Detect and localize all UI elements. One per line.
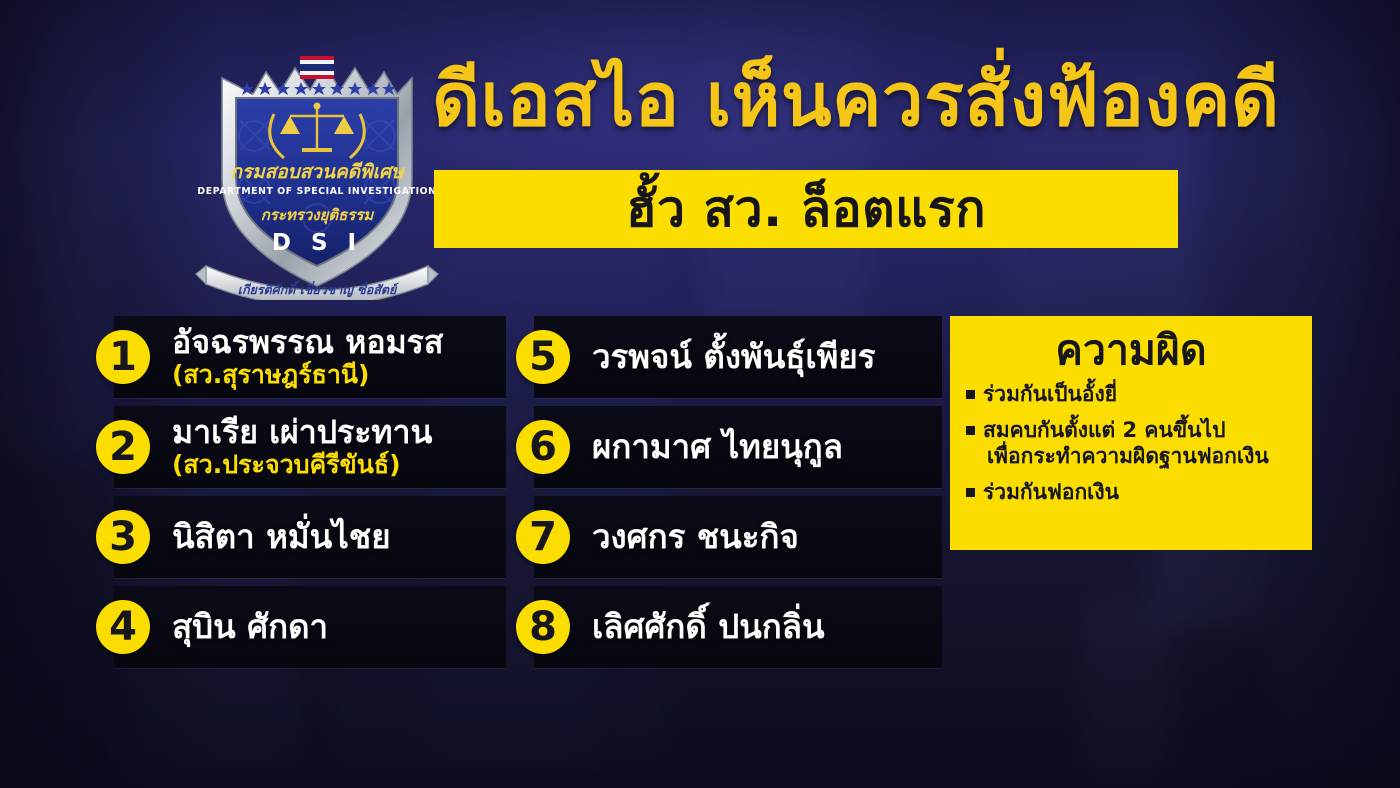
charge-item: สมคบกันตั้งแต่ 2 คนขึ้นไป เพื่อกระทำความ… (966, 418, 1296, 468)
bullet-icon (966, 390, 975, 399)
charges-panel: ความผิด ร่วมกันเป็นอั้งยี่ สมคบกันตั้งแต… (950, 316, 1312, 550)
person-name: อัจฉรพรรณ หอมรส (172, 325, 443, 360)
charge-text: ร่วมกันเป็นอั้งยี่ (983, 382, 1296, 407)
person-name: วงศกร ชนะกิจ (592, 519, 799, 555)
person-name: ผกามาศ ไทยนุกูล (592, 429, 843, 465)
subtitle-text: ฮั้ว สว. ล็อตแรก (626, 184, 986, 234)
person-name: เลิศศักดิ์ ปนกลิ่น (592, 609, 825, 645)
list-item[interactable]: 8 เลิศศักดิ์ ปนกลิ่น (516, 586, 942, 668)
dsi-logo: กรมสอบสวนคดีพิเศษ DEPARTMENT OF SPECIAL … (192, 28, 442, 300)
charge-item: ร่วมกันฟอกเงิน (966, 480, 1296, 505)
list-item[interactable]: 2 มาเรีย เผ่าประทาน (สว.ประจวบคีรีขันธ์) (96, 406, 506, 488)
item-number-badge: 4 (96, 600, 150, 654)
logo-acronym: D S I (272, 230, 362, 256)
item-text: นิสิตา หมั่นไชย (172, 519, 391, 555)
item-number-badge: 3 (96, 510, 150, 564)
logo-agency-thai: กรมสอบสวนคดีพิเศษ (230, 161, 406, 183)
item-number-badge: 5 (516, 330, 570, 384)
person-name: มาเรีย เผ่าประทาน (172, 415, 432, 450)
item-number-badge: 7 (516, 510, 570, 564)
item-number-badge: 8 (516, 600, 570, 654)
charge-text: ร่วมกันฟอกเงิน (983, 480, 1296, 505)
list-item[interactable]: 5 วรพจน์ ตั้งพันธุ์เพียร (516, 316, 942, 398)
item-text: ผกามาศ ไทยนุกูล (592, 429, 843, 465)
logo-ministry-thai: กระทรวงยุติธรรม (261, 206, 375, 225)
list-item[interactable]: 4 สุบิน ศักดา (96, 586, 506, 668)
charge-line-2: เพื่อกระทำความผิดฐานฟอกเงิน (983, 444, 1296, 469)
thai-flag-icon (300, 56, 334, 79)
item-number-badge: 1 (96, 330, 150, 384)
person-name: สุบิน ศักดา (172, 609, 328, 645)
person-position: (สว.ประจวบคีรีขันธ์) (172, 451, 432, 479)
charge-item: ร่วมกันเป็นอั้งยี่ (966, 382, 1296, 407)
bullet-icon (966, 488, 975, 497)
item-text: มาเรีย เผ่าประทาน (สว.ประจวบคีรีขันธ์) (172, 415, 432, 478)
item-text: วงศกร ชนะกิจ (592, 519, 799, 555)
list-item[interactable]: 1 อัจฉรพรรณ หอมรส (สว.สุราษฎร์ธานี) (96, 316, 506, 398)
item-text: สุบิน ศักดา (172, 609, 328, 645)
item-number-badge: 2 (96, 420, 150, 474)
person-name: วรพจน์ ตั้งพันธุ์เพียร (592, 339, 875, 375)
item-number-badge: 6 (516, 420, 570, 474)
item-text: เลิศศักดิ์ ปนกลิ่น (592, 609, 825, 645)
subtitle-banner: ฮั้ว สว. ล็อตแรก (434, 170, 1178, 248)
people-list-left: 1 อัจฉรพรรณ หอมรส (สว.สุราษฎร์ธานี) 2 มา… (96, 316, 506, 676)
person-name: นิสิตา หมั่นไชย (172, 519, 391, 555)
charge-line-1: สมคบกันตั้งแต่ 2 คนขึ้นไป (983, 418, 1225, 442)
person-position: (สว.สุราษฎร์ธานี) (172, 361, 443, 389)
page-headline: ดีเอสไอ เห็นควรสั่งฟ้องคดี (432, 46, 1184, 154)
item-text: อัจฉรพรรณ หอมรส (สว.สุราษฎร์ธานี) (172, 325, 443, 388)
charges-title: ความผิด (966, 328, 1296, 372)
logo-agency-english: DEPARTMENT OF SPECIAL INVESTIGATION (197, 186, 436, 197)
list-item[interactable]: 6 ผกามาศ ไทยนุกูล (516, 406, 942, 488)
logo-motto: เกียรติศักดิ์ เชี่ยวชาญ ซื่อสัตย์ (238, 280, 400, 298)
item-text: วรพจน์ ตั้งพันธุ์เพียร (592, 339, 875, 375)
list-item[interactable]: 3 นิสิตา หมั่นไชย (96, 496, 506, 578)
charge-text: สมคบกันตั้งแต่ 2 คนขึ้นไป เพื่อกระทำความ… (983, 418, 1296, 468)
bullet-icon (966, 426, 975, 435)
list-item[interactable]: 7 วงศกร ชนะกิจ (516, 496, 942, 578)
people-list-right: 5 วรพจน์ ตั้งพันธุ์เพียร 6 ผกามาศ ไทยนุก… (516, 316, 942, 676)
